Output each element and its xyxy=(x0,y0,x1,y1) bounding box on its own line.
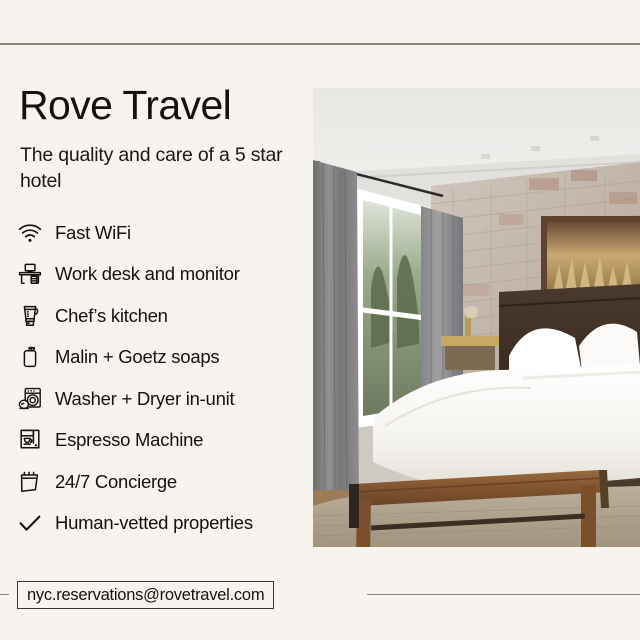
list-item: Fast WiFi xyxy=(0,212,310,254)
footer-divider-right xyxy=(367,594,640,595)
list-item: Human-vetted properties xyxy=(0,503,310,545)
list-item: Espresso Machine xyxy=(0,420,310,462)
list-item: Work desk and monitor xyxy=(0,254,310,296)
list-item-label: 24/7 Concierge xyxy=(55,471,177,493)
promo-card: Rove Travel The quality and care of a 5 … xyxy=(0,0,640,640)
list-item: Washer + Dryer in-unit xyxy=(0,378,310,420)
hotel-room-photo-image xyxy=(313,88,640,547)
list-item-label: Espresso Machine xyxy=(55,429,203,451)
left-content-column: Rove Travel The quality and care of a 5 … xyxy=(0,60,310,560)
list-item-label: Chef’s kitchen xyxy=(55,305,168,327)
list-item: 24/7 Concierge xyxy=(0,461,310,503)
list-item: Malin + Goetz soaps xyxy=(0,337,310,379)
feature-list: Fast WiFi Work desk and monitor xyxy=(0,212,310,544)
list-item-label: Work desk and monitor xyxy=(55,263,240,285)
list-item-label: Malin + Goetz soaps xyxy=(55,346,219,368)
list-item-label: Human-vetted properties xyxy=(55,512,253,534)
email-address: nyc.reservations@rovetravel.com xyxy=(27,586,264,605)
washer-dryer-icon xyxy=(17,386,43,412)
list-item: Chef’s kitchen xyxy=(0,295,310,337)
list-item-label: Fast WiFi xyxy=(55,222,131,244)
soap-dispenser-icon xyxy=(17,344,43,370)
tagline: The quality and care of a 5 star hotel xyxy=(20,142,300,194)
list-item-label: Washer + Dryer in-unit xyxy=(55,388,234,410)
checkmark-icon xyxy=(17,510,43,536)
hotel-room-photo xyxy=(313,88,640,547)
calendar-icon xyxy=(17,469,43,495)
wifi-icon xyxy=(17,220,43,246)
desk-monitor-icon xyxy=(17,261,43,287)
top-divider xyxy=(0,43,640,45)
page-title: Rove Travel xyxy=(19,85,231,126)
email-contact-box[interactable]: nyc.reservations@rovetravel.com xyxy=(17,581,274,609)
espresso-machine-icon xyxy=(17,427,43,453)
footer-divider-left xyxy=(0,594,9,595)
blender-icon xyxy=(17,303,43,329)
